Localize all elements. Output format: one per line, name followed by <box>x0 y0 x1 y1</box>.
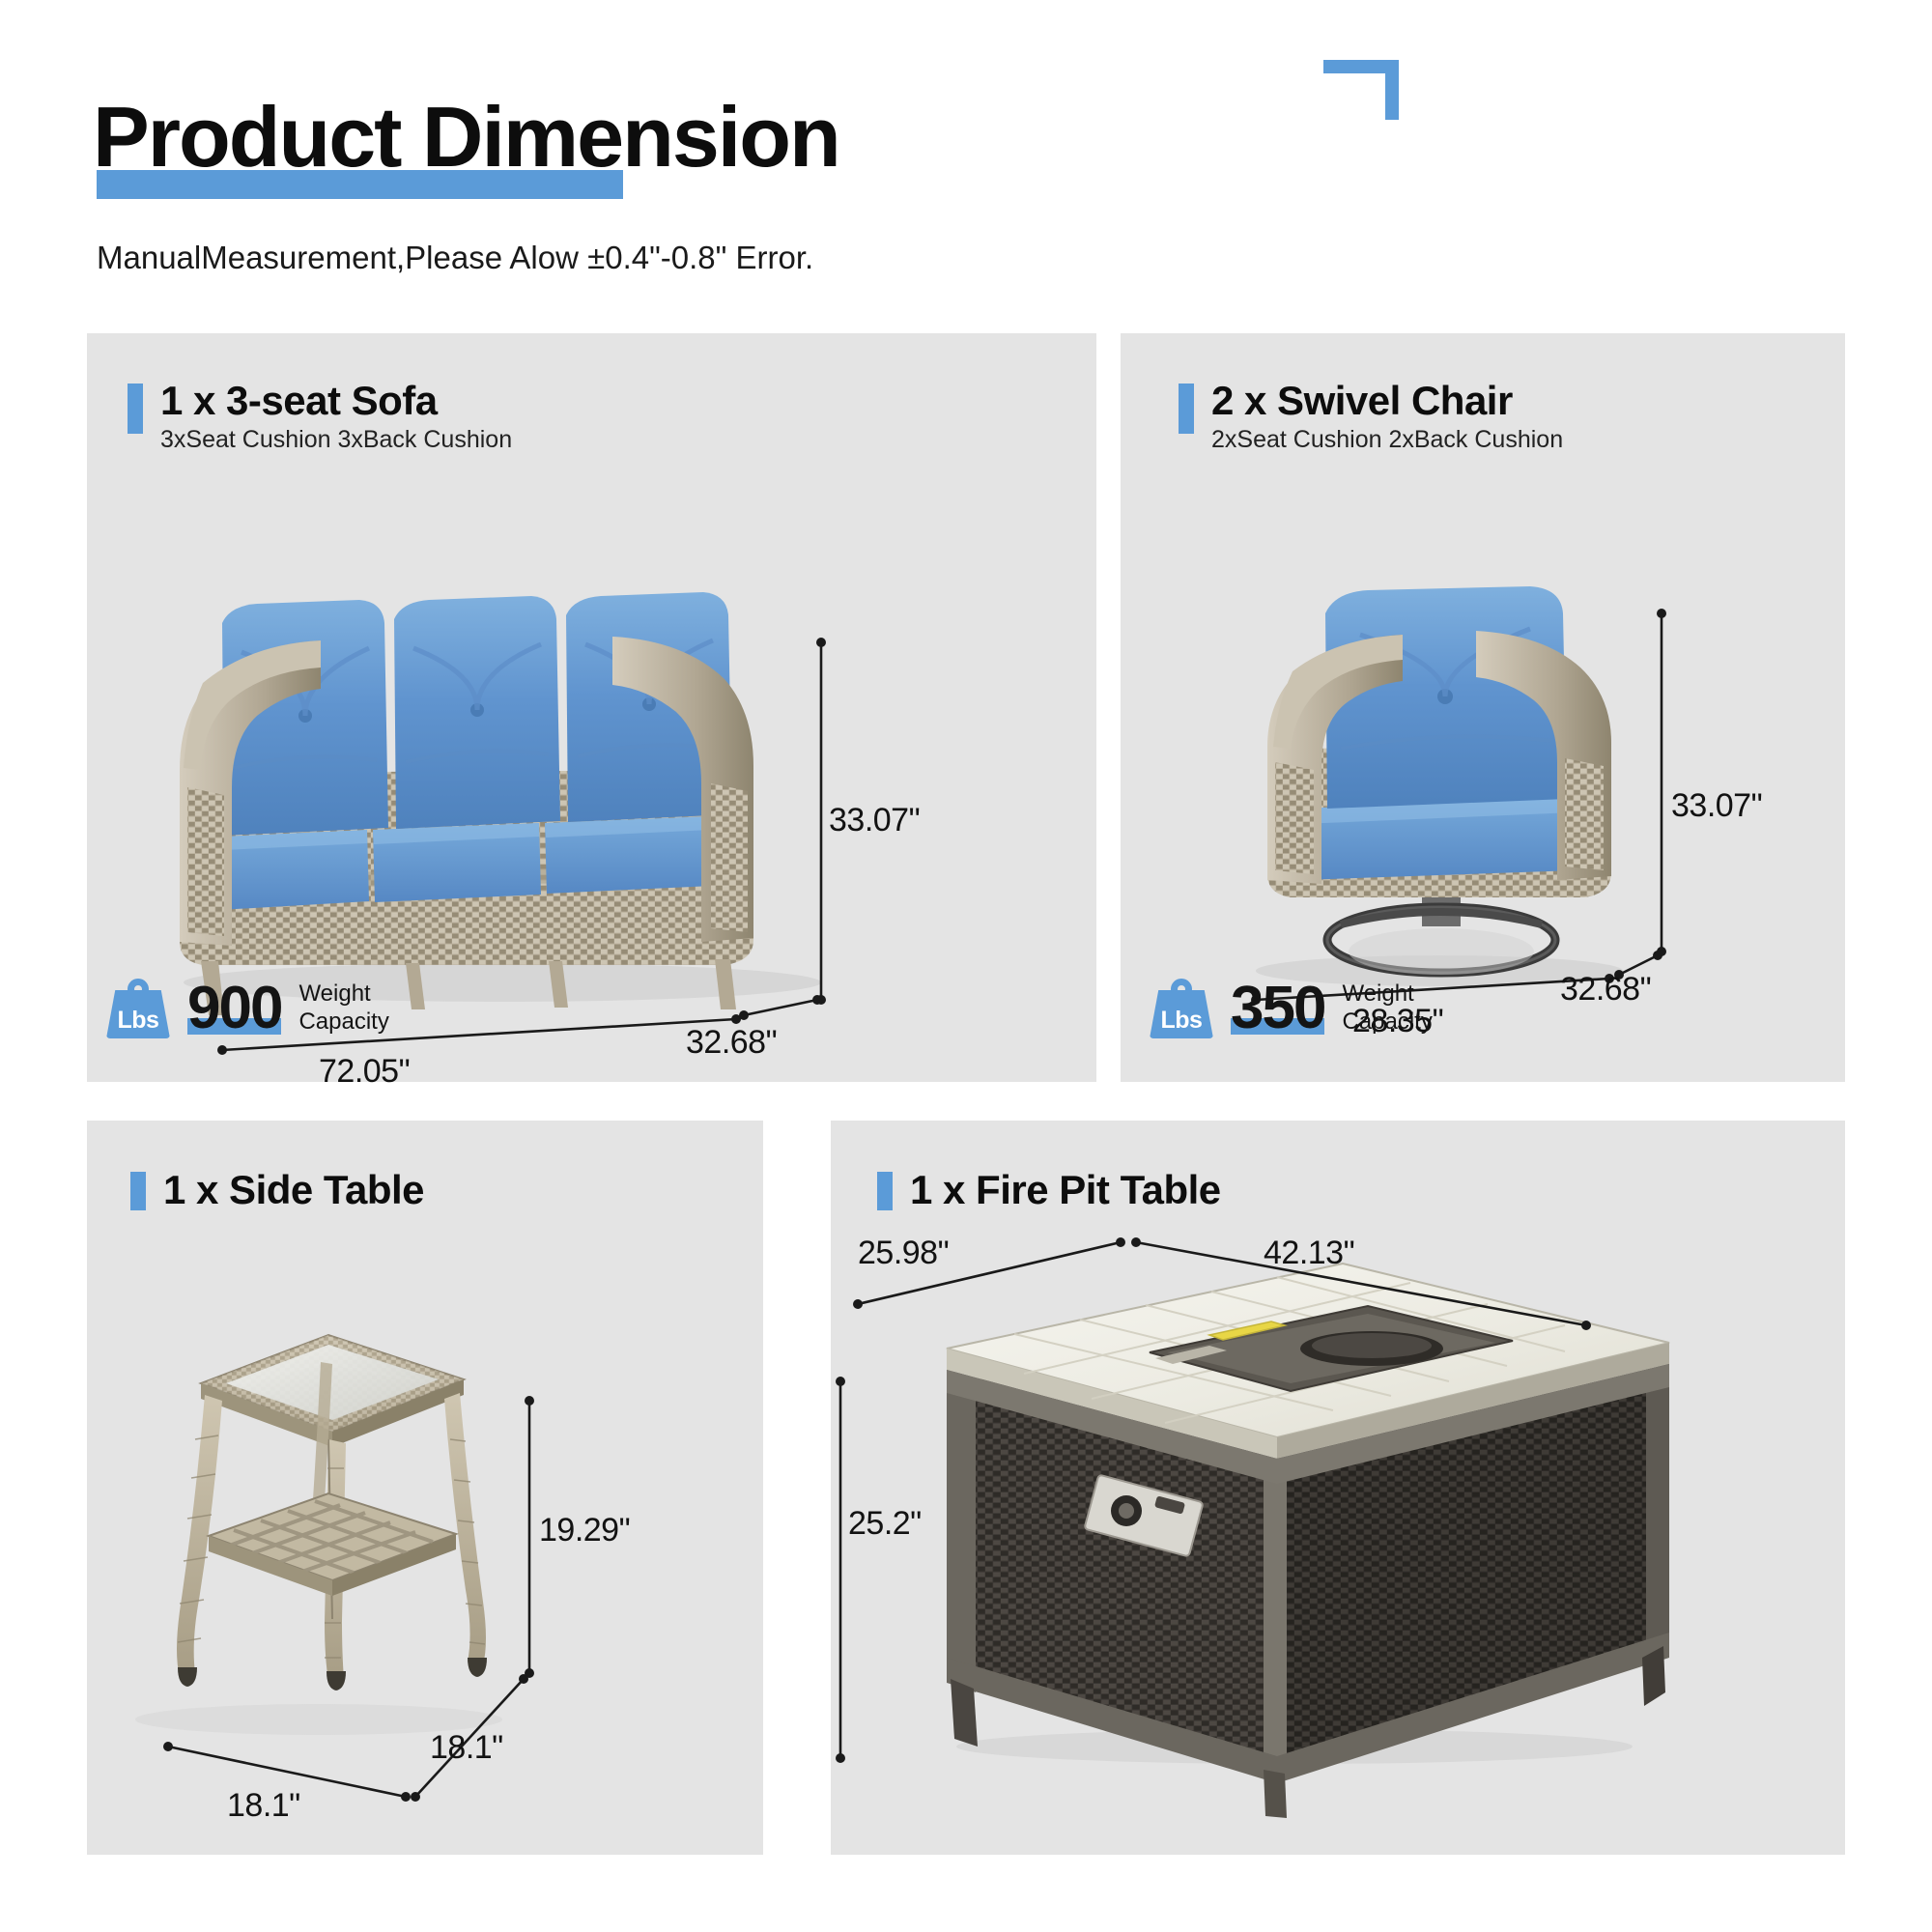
weight-unit-label: Lbs <box>1150 1007 1213 1035</box>
sofa-depth-dimension: 32.68" <box>686 1024 777 1062</box>
fire-pit-depth-dimension: 25.98" <box>858 1235 949 1272</box>
fire-pit-width-dimension: 42.13" <box>1264 1235 1354 1272</box>
chair-height-dimension: 33.07" <box>1671 787 1762 825</box>
page-header: Product Dimension ManualMeasurement,Plea… <box>0 0 1932 319</box>
corner-bracket-vertical-bar <box>1385 60 1399 120</box>
fire-pit-table-illustration <box>831 1121 1845 1855</box>
weight-value-wrap: 900 <box>185 979 283 1038</box>
weight-value-wrap: 350 <box>1229 979 1326 1038</box>
weight-unit-label: Lbs <box>106 1007 170 1035</box>
page-title: Product Dimension <box>93 93 839 182</box>
page-subtitle: ManualMeasurement,Please Alow ±0.4"-0.8"… <box>97 240 813 276</box>
side-table-depth-dimension: 18.1" <box>430 1729 503 1767</box>
weight-caption-line1: Weight <box>1342 980 1432 1009</box>
fire-pit-height-dimension: 25.2" <box>848 1505 922 1543</box>
weight-icon-handle <box>1171 979 1192 1000</box>
panel-fire-pit-table: 1 x Fire Pit Table <box>831 1121 1845 1855</box>
weight-caption-line2: Capacity <box>298 1009 388 1037</box>
chair-weight-capacity-badge: Lbs 350 Weight Capacity <box>1150 979 1433 1038</box>
sofa-weight-capacity-badge: Lbs 900 Weight Capacity <box>106 979 389 1038</box>
side-table-illustration <box>87 1121 763 1855</box>
sofa-illustration <box>87 333 1096 1082</box>
chair-depth-dimension: 32.68" <box>1560 971 1651 1009</box>
panel-side-table: 1 x Side Table <box>87 1121 763 1855</box>
corner-bracket-icon <box>1323 60 1399 120</box>
weight-caption-line1: Weight <box>298 980 388 1009</box>
weight-icon: Lbs <box>1150 979 1213 1038</box>
weight-caption-line2: Capacity <box>1342 1009 1432 1037</box>
sofa-weight-caption: Weight Capacity <box>298 980 388 1037</box>
sofa-weight-value: 900 <box>185 979 283 1038</box>
chair-weight-caption: Weight Capacity <box>1342 980 1432 1037</box>
side-table-width-dimension: 18.1" <box>227 1787 300 1825</box>
panel-sofa: 1 x 3-seat Sofa 3xSeat Cushion 3xBack Cu… <box>87 333 1096 1082</box>
weight-icon-handle <box>128 979 149 1000</box>
weight-icon: Lbs <box>106 979 170 1038</box>
swivel-chair-illustration <box>1121 333 1845 1082</box>
chair-weight-value: 350 <box>1229 979 1326 1038</box>
side-table-height-dimension: 19.29" <box>539 1512 630 1549</box>
page-title-wrap: Product Dimension <box>93 93 839 182</box>
sofa-width-dimension: 72.05" <box>319 1053 410 1091</box>
panel-swivel-chair: 2 x Swivel Chair 2xSeat Cushion 2xBack C… <box>1121 333 1845 1082</box>
sofa-height-dimension: 33.07" <box>829 802 920 839</box>
